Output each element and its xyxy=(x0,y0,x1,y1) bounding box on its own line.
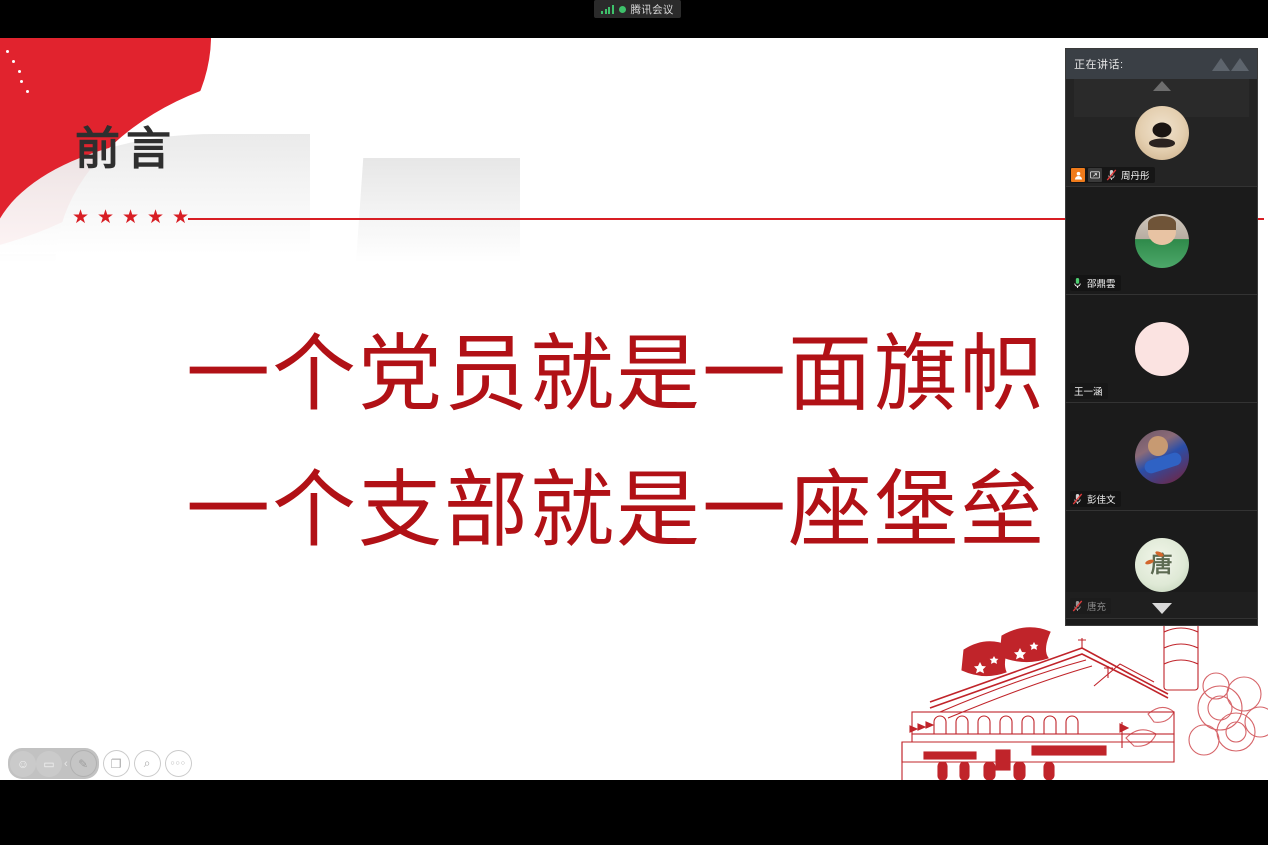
headline-line-2: 一个支部就是一座堡垒 xyxy=(0,442,1232,578)
collapse-toolbar-button[interactable]: ‹ xyxy=(62,758,70,770)
window-switch-button[interactable]: ❐ xyxy=(103,750,130,777)
avatar xyxy=(1135,430,1189,484)
chat-bubble-icon: ▭ xyxy=(43,757,54,771)
participant-nameplate: 邵鼎雲 xyxy=(1070,275,1121,291)
annotate-pencil-button[interactable]: ✎ xyxy=(70,750,97,777)
speaking-now-label: 正在讲话: xyxy=(1074,56,1124,72)
screen: 腾讯会议 前言 ★ ★ ★ ★ ★ 一个党员就是一面旗帜 一个支部就是一座堡垒 xyxy=(0,0,1268,845)
mic-active-icon xyxy=(1071,276,1084,290)
participant-nameplate: 周丹彤 xyxy=(1070,167,1155,183)
participant-tile[interactable]: 周丹彤 xyxy=(1066,79,1257,187)
meeting-status-bar: 腾讯会议 xyxy=(0,0,1268,18)
green-dot-icon xyxy=(619,6,626,13)
host-person-icon xyxy=(1071,168,1085,182)
emoji-icon: ☺ xyxy=(17,757,29,771)
ellipsis-icon: ○○○ xyxy=(170,760,186,767)
participant-nameplate: 王一涵 xyxy=(1070,383,1108,399)
mic-muted-icon xyxy=(1105,168,1118,182)
presentation-toolbar[interactable]: ☺ ▭ ‹ ✎ ❐ ⌕ ○○○ xyxy=(8,748,192,779)
participant-tile[interactable]: 王一涵 xyxy=(1066,295,1257,403)
participant-tile[interactable]: 邵鼎雲 xyxy=(1066,187,1257,295)
participant-name: 周丹彤 xyxy=(1121,168,1150,182)
emoji-reaction-button[interactable]: ☺ xyxy=(10,751,36,777)
star-row: ★ ★ ★ ★ ★ xyxy=(68,208,193,227)
tencent-meeting-indicator[interactable]: 腾讯会议 xyxy=(594,0,681,18)
participant-name: 彭佳文 xyxy=(1087,492,1116,506)
slide-title: 前言 xyxy=(75,126,177,171)
decorative-dots xyxy=(6,50,29,100)
screen-share-icon xyxy=(1088,168,1102,182)
avatar xyxy=(1135,106,1189,160)
more-options-button[interactable]: ○○○ xyxy=(165,750,192,777)
participant-name: 邵鼎雲 xyxy=(1087,276,1116,290)
participant-tile[interactable]: 彭佳文 xyxy=(1066,403,1257,511)
signal-bars-icon xyxy=(601,5,614,14)
star-icon: ★ xyxy=(93,208,118,227)
slide-headline-block: 一个党员就是一面旗帜 一个支部就是一座堡垒 xyxy=(0,306,1232,578)
participant-tiles[interactable]: 周丹彤 邵鼎雲 xyxy=(1066,79,1257,625)
magnifier-icon: ⌕ xyxy=(144,756,151,771)
tencent-meeting-logo-icon xyxy=(1212,58,1249,71)
mic-muted-icon xyxy=(1071,599,1084,613)
chevron-left-icon: ‹ xyxy=(64,758,68,770)
pencil-icon: ✎ xyxy=(78,757,88,771)
letterbox-bottom xyxy=(0,780,1268,845)
headline-line-1: 一个党员就是一面旗帜 xyxy=(0,306,1232,442)
participant-nameplate: 彭佳文 xyxy=(1070,491,1121,507)
participant-name: 王一涵 xyxy=(1071,384,1103,398)
participant-nameplate: 唐充 xyxy=(1070,598,1111,614)
panel-header[interactable]: 正在讲话: xyxy=(1066,49,1257,79)
toolbar-primary-group: ☺ ▭ ‹ ✎ xyxy=(8,748,99,779)
windows-icon: ❐ xyxy=(111,757,122,771)
avatar xyxy=(1135,322,1189,376)
chat-button[interactable]: ▭ xyxy=(36,751,62,777)
mic-muted-icon xyxy=(1071,492,1084,506)
scroll-down-arrow-icon[interactable] xyxy=(1152,603,1172,614)
meeting-app-label: 腾讯会议 xyxy=(631,2,674,17)
avatar xyxy=(1135,214,1189,268)
avatar: 唐 xyxy=(1135,538,1189,592)
scroll-up-arrow-icon[interactable] xyxy=(1153,81,1171,91)
star-icon: ★ xyxy=(143,208,168,227)
participant-tile[interactable]: 唐 唐充 xyxy=(1066,511,1257,619)
participant-panel: 正在讲话: xyxy=(1065,48,1258,626)
star-icon: ★ xyxy=(68,208,93,227)
zoom-magnifier-button[interactable]: ⌕ xyxy=(134,750,161,777)
star-icon: ★ xyxy=(118,208,143,227)
participant-name: 唐充 xyxy=(1087,599,1106,613)
